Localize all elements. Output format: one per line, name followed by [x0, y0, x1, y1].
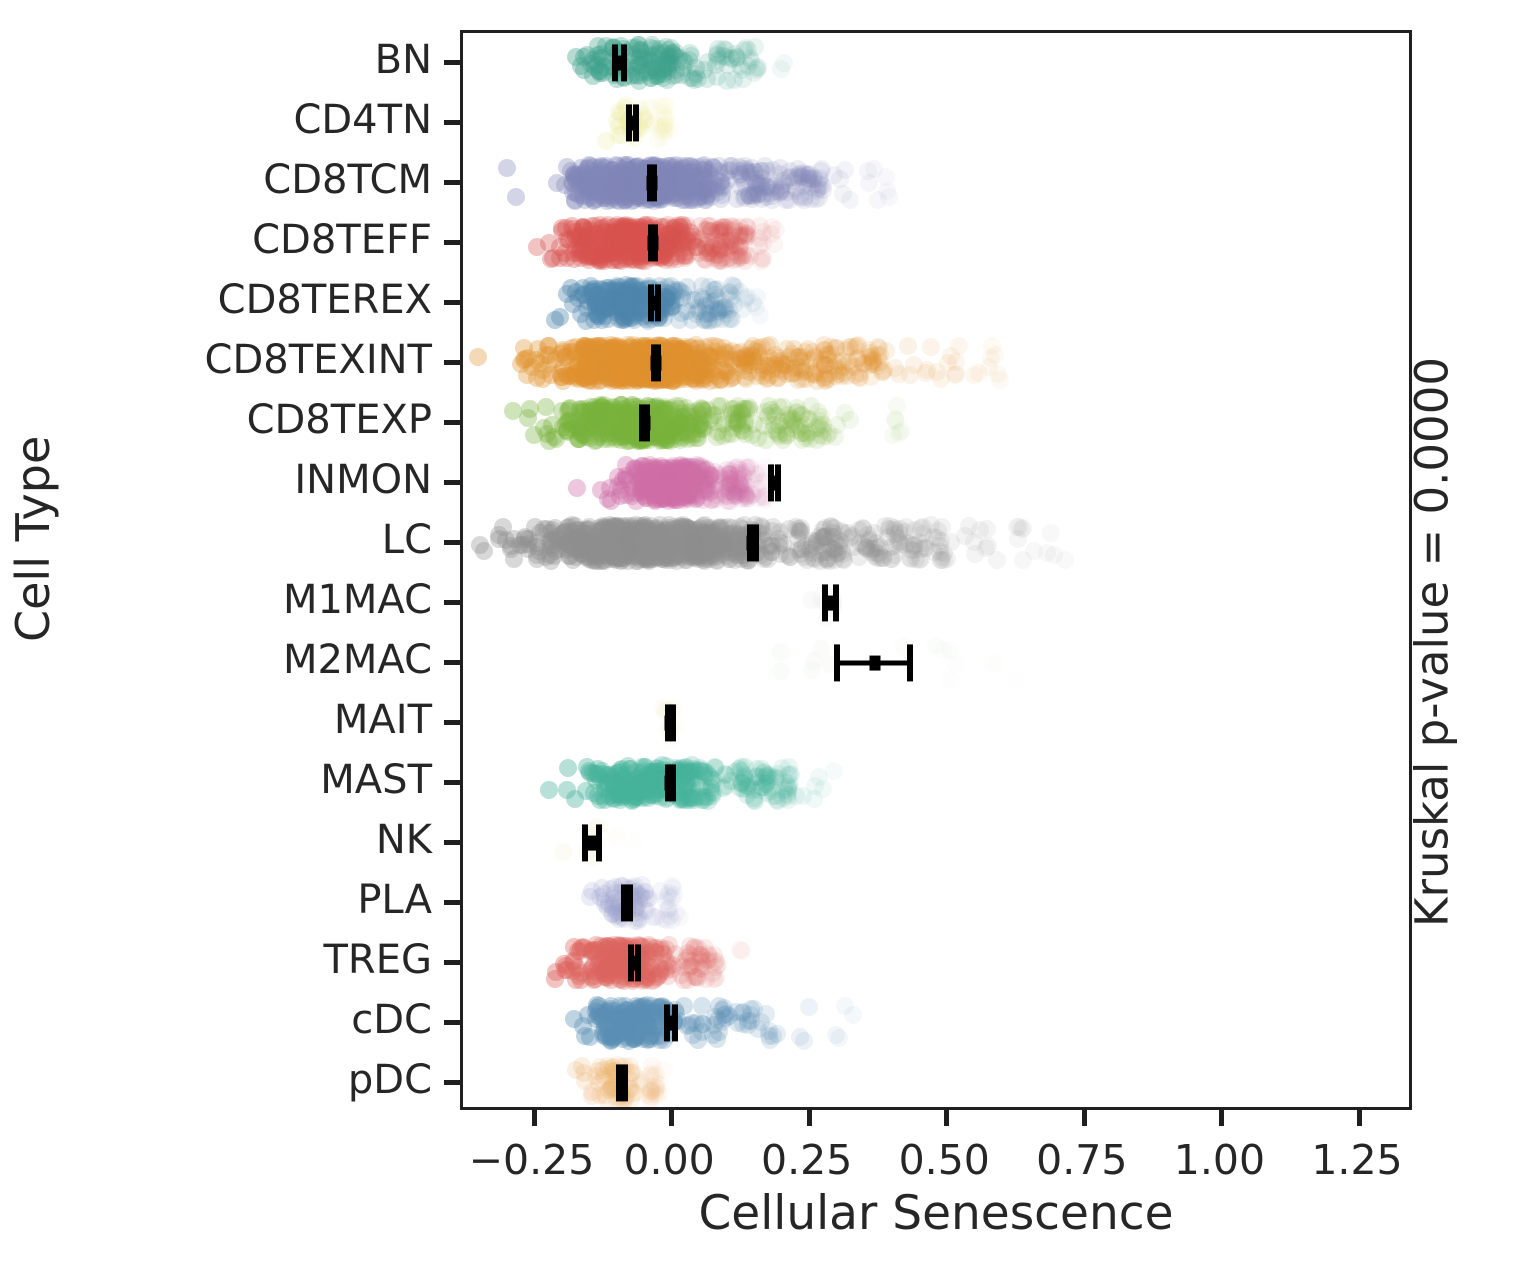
- plot-area: [460, 30, 1412, 1110]
- plot-canvas: [463, 33, 1409, 1107]
- figure-root: Cell Type −0.250.000.250.500.751.001.25B…: [0, 0, 1517, 1284]
